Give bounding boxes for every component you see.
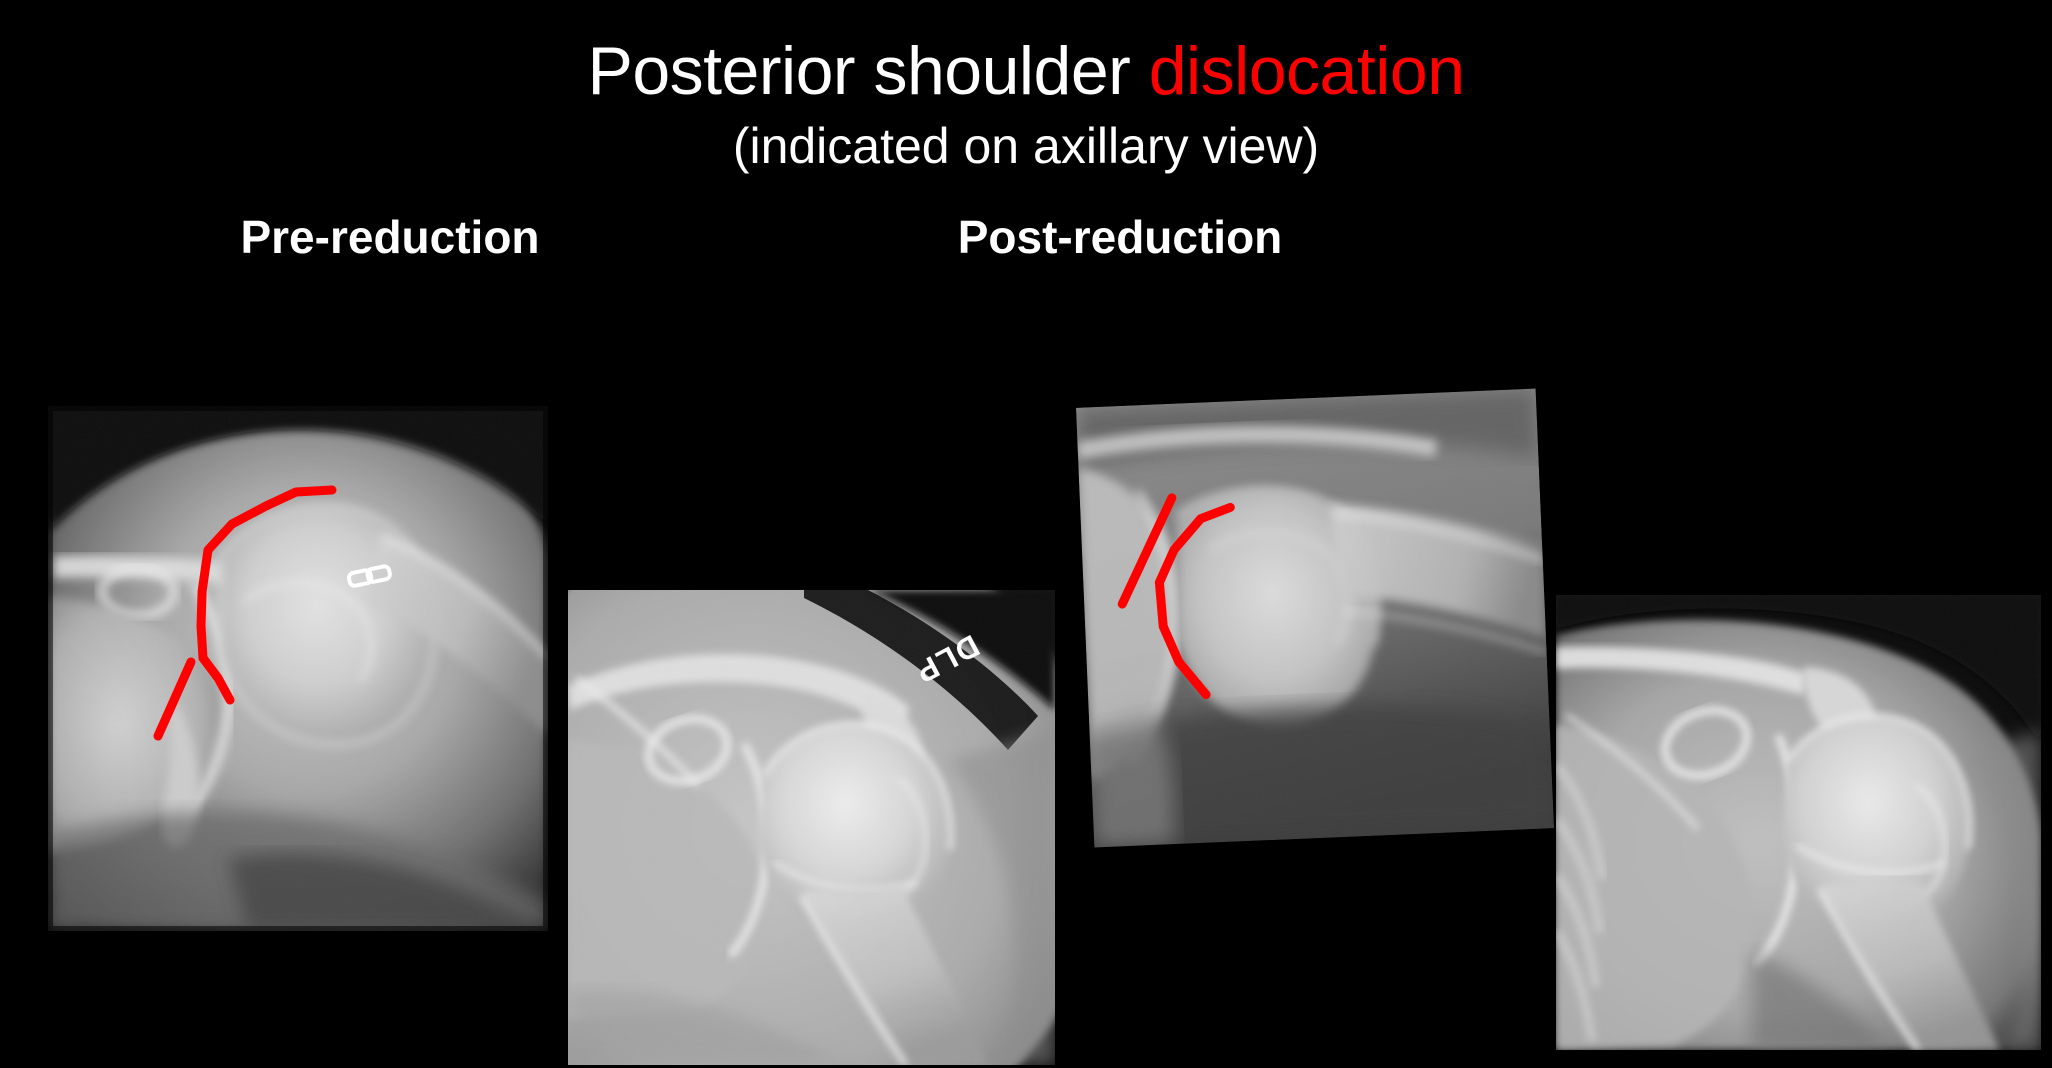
page-subtitle: (indicated on axillary view): [0, 120, 2052, 173]
slide-canvas: Posterior shoulder dislocation (indicate…: [0, 0, 2052, 1068]
xray-image-pre-axillary: [48, 406, 548, 931]
xray-panel-post-axillary[interactable]: [1076, 389, 1554, 848]
column-label-post-reduction: Post-reduction: [880, 210, 1360, 264]
page-title-highlight: dislocation: [1149, 33, 1465, 109]
xray-panel-post-ap[interactable]: [1556, 595, 2041, 1050]
xray-panel-pre-axillary[interactable]: [48, 406, 548, 931]
xray-image-post-axillary: [1076, 389, 1554, 848]
xray-panel-pre-ap[interactable]: DLP: [568, 590, 1055, 1065]
column-label-pre-reduction: Pre-reduction: [150, 210, 630, 264]
xray-image-post-ap: [1556, 595, 2041, 1050]
page-title: Posterior shoulder dislocation: [0, 36, 2052, 107]
page-title-lead: Posterior shoulder: [587, 33, 1148, 109]
xray-image-pre-ap: [568, 590, 1055, 1065]
